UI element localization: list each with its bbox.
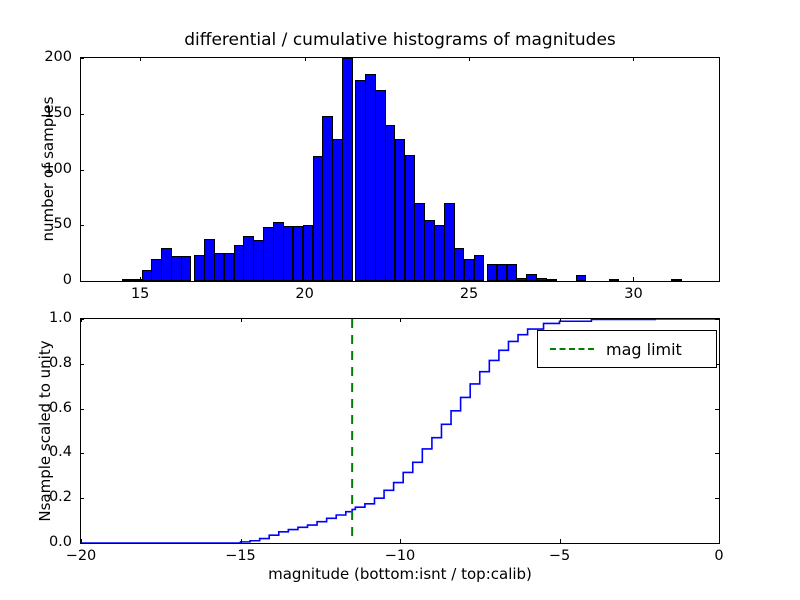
bottom-xtick-mark <box>81 318 82 322</box>
bottom-ytick-mark <box>80 498 84 499</box>
bottom-ytick-label: 0.8 <box>14 355 72 371</box>
top-ytick-label: 0 <box>14 272 72 288</box>
bottom-xtick-mark <box>400 539 401 543</box>
top-ytick-mark <box>80 225 84 226</box>
histogram-bar <box>342 58 353 281</box>
bottom-ytick-mark <box>80 409 84 410</box>
figure-canvas: differential / cumulative histograms of … <box>0 0 800 600</box>
bottom-ytick-label: 0.6 <box>14 400 72 416</box>
bottom-ytick-mark <box>715 409 719 410</box>
legend-label: mag limit <box>606 340 682 359</box>
figure-xlabel: magnitude (bottom:isnt / top:calib) <box>80 565 720 583</box>
top-panel-axes <box>80 57 720 282</box>
top-xtick-mark <box>140 57 141 61</box>
bottom-xtick-mark <box>560 318 561 322</box>
bottom-xtick-mark <box>719 318 720 322</box>
top-xtick-label: 20 <box>280 286 330 302</box>
histogram-bar <box>576 275 587 281</box>
top-xtick-mark <box>633 277 634 281</box>
histogram-bar <box>671 279 682 281</box>
top-xtick-label: 15 <box>115 286 165 302</box>
top-xtick-mark <box>633 57 634 61</box>
figure-title: differential / cumulative histograms of … <box>80 30 720 50</box>
top-ytick-mark <box>80 170 84 171</box>
top-xtick-mark <box>305 277 306 281</box>
histogram-bar <box>609 279 620 281</box>
bottom-ytick-mark <box>80 453 84 454</box>
top-ytick-mark <box>80 58 84 59</box>
top-xtick-label: 30 <box>608 286 658 302</box>
top-xtick-mark <box>469 277 470 281</box>
histogram-bar <box>474 255 485 281</box>
top-xtick-mark <box>140 277 141 281</box>
bottom-xtick-mark <box>560 539 561 543</box>
bottom-ytick-label: 0.2 <box>14 489 72 505</box>
bottom-panel-ylabel: Nsample scaled to unity <box>36 316 54 546</box>
bottom-ytick-mark <box>715 543 719 544</box>
top-ytick-label: 200 <box>14 49 72 65</box>
bottom-xtick-mark <box>400 318 401 322</box>
legend-dash-icon <box>550 348 594 350</box>
top-ytick-mark <box>80 114 84 115</box>
bottom-ytick-mark <box>80 543 84 544</box>
top-ytick-label: 50 <box>14 216 72 232</box>
histogram-bar <box>181 256 192 281</box>
top-ytick-label: 100 <box>14 161 72 177</box>
bottom-xtick-mark <box>241 318 242 322</box>
bottom-xtick-label: −10 <box>370 548 430 564</box>
top-ytick-label: 150 <box>14 105 72 121</box>
bottom-xtick-label: −5 <box>530 548 590 564</box>
top-xtick-mark <box>469 57 470 61</box>
bottom-ytick-label: 0.4 <box>14 444 72 460</box>
bottom-xtick-mark <box>81 539 82 543</box>
bottom-xtick-label: 0 <box>689 548 749 564</box>
bottom-xtick-mark <box>719 539 720 543</box>
bottom-ytick-mark <box>80 364 84 365</box>
bottom-xtick-mark <box>241 539 242 543</box>
bottom-xtick-label: −20 <box>51 548 111 564</box>
bottom-xtick-label: −15 <box>211 548 271 564</box>
top-xtick-label: 25 <box>444 286 494 302</box>
legend[interactable]: mag limit <box>537 330 717 368</box>
bottom-ytick-mark <box>715 498 719 499</box>
top-ytick-mark <box>80 281 84 282</box>
top-xtick-mark <box>305 57 306 61</box>
bottom-ytick-mark <box>715 453 719 454</box>
bottom-ytick-label: 1.0 <box>14 310 72 326</box>
histogram-bar <box>546 279 557 281</box>
